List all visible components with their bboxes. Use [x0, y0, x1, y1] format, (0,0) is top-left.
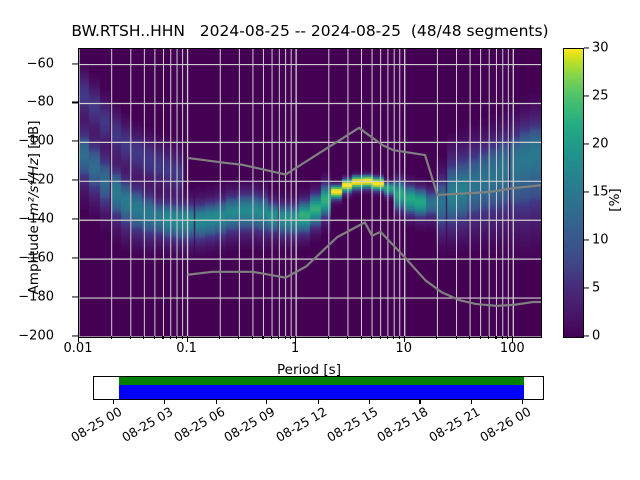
x-tick-mark-minor: [371, 336, 372, 339]
y-tick-mark: [72, 297, 79, 298]
y-tick-label: −80: [27, 95, 54, 110]
x-tick-mark-minor: [495, 336, 496, 339]
x-tick-mark-minor: [182, 336, 183, 339]
x-tick-mark-minor: [456, 336, 457, 339]
ppsd-overlay: [79, 49, 541, 337]
x-tick-mark-minor: [252, 336, 253, 339]
x-tick-mark-minor: [278, 336, 279, 339]
x-tick-mark-minor: [238, 336, 239, 339]
colorbar-tick-mark: [584, 47, 590, 48]
x-tick-mark-minor: [502, 336, 503, 339]
x-tick-mark-minor: [130, 336, 131, 339]
y-tick-label: −200: [18, 329, 54, 344]
colorbar-tick-label: 25: [592, 89, 609, 104]
x-tick-mark-minor: [393, 336, 394, 339]
y-tick-mark: [72, 63, 79, 64]
x-tick-mark-minor: [380, 336, 381, 339]
x-tick-mark-minor: [328, 336, 329, 339]
figure-title: BW.RTSH..HHN 2024-08-25 -- 2024-08-25 (4…: [0, 22, 620, 40]
x-tick-label: 10: [395, 341, 412, 356]
y-tick-label: −140: [18, 212, 54, 227]
y-tick-label: −180: [18, 290, 54, 305]
x-tick-mark-minor: [262, 336, 263, 339]
timeline-tick-mark: [164, 399, 165, 404]
x-tick-mark-minor: [399, 336, 400, 339]
y-tick-label: −120: [18, 173, 54, 188]
timeline-tick-mark: [113, 399, 114, 404]
timeline-tick-mark: [522, 399, 523, 404]
x-tick-mark-minor: [271, 336, 272, 339]
colorbar-tick-mark: [584, 287, 590, 288]
x-tick-mark-minor: [219, 336, 220, 339]
colorbar[interactable]: [563, 48, 584, 338]
x-tick-mark-minor: [507, 336, 508, 339]
colorbar-tick-label: 0: [592, 329, 600, 344]
colorbar-tick-label: 5: [592, 281, 600, 296]
x-tick-mark-minor: [170, 336, 171, 339]
y-tick-label: −100: [18, 134, 54, 149]
x-tick-mark-minor: [154, 336, 155, 339]
y-tick-mark: [72, 180, 79, 181]
x-tick-mark-minor: [143, 336, 144, 339]
timeline-coverage-axes[interactable]: [93, 376, 544, 400]
nhnm-noise-model-curve: [188, 128, 541, 195]
ppsd-plot-area[interactable]: [78, 48, 542, 338]
colorbar-tick-mark: [584, 95, 590, 96]
x-tick-mark-minor: [176, 336, 177, 339]
timeline-bar-psd-segments: [119, 377, 524, 385]
x-tick-mark-minor: [469, 336, 470, 339]
x-tick-label: 0.01: [64, 341, 93, 356]
x-tick-label: 100: [500, 341, 525, 356]
timeline-tick-mark: [369, 399, 370, 404]
x-tick-mark-minor: [488, 336, 489, 339]
x-tick-mark-minor: [111, 336, 112, 339]
x-tick-mark-minor: [347, 336, 348, 339]
x-tick-label: 1: [291, 341, 299, 356]
x-tick-mark-minor: [162, 336, 163, 339]
y-tick-mark: [72, 102, 79, 103]
y-tick-mark: [72, 141, 79, 142]
y-tick-mark: [72, 258, 79, 259]
timeline-tick-mark: [471, 399, 472, 404]
timeline-tick-text: 08-25 00: [68, 404, 124, 445]
colorbar-tick-mark: [584, 239, 590, 240]
y-tick-mark: [72, 219, 79, 220]
colorbar-label: [%]: [607, 140, 623, 260]
timeline-tick-mark: [266, 399, 267, 404]
y-tick-label: −60: [27, 56, 54, 71]
ppsd-figure: BW.RTSH..HHN 2024-08-25 -- 2024-08-25 (4…: [0, 0, 640, 480]
colorbar-tick-mark: [584, 143, 590, 144]
x-tick-mark-minor: [436, 336, 437, 339]
x-tick-label: 0.1: [176, 341, 197, 356]
x-tick-mark-minor: [387, 336, 388, 339]
timeline-tick-mark: [216, 399, 217, 404]
x-tick-mark-minor: [285, 336, 286, 339]
nlnm-noise-model-curve: [188, 222, 541, 305]
timeline-tick-mark: [419, 399, 420, 404]
timeline-tick-mark: [318, 399, 319, 404]
x-tick-mark-minor: [361, 336, 362, 339]
x-tick-mark-minor: [480, 336, 481, 339]
x-tick-mark-minor: [290, 336, 291, 339]
colorbar-tick-label: 30: [592, 41, 609, 56]
y-tick-label: −160: [18, 251, 54, 266]
colorbar-tick-mark: [584, 335, 590, 336]
colorbar-tick-mark: [584, 191, 590, 192]
